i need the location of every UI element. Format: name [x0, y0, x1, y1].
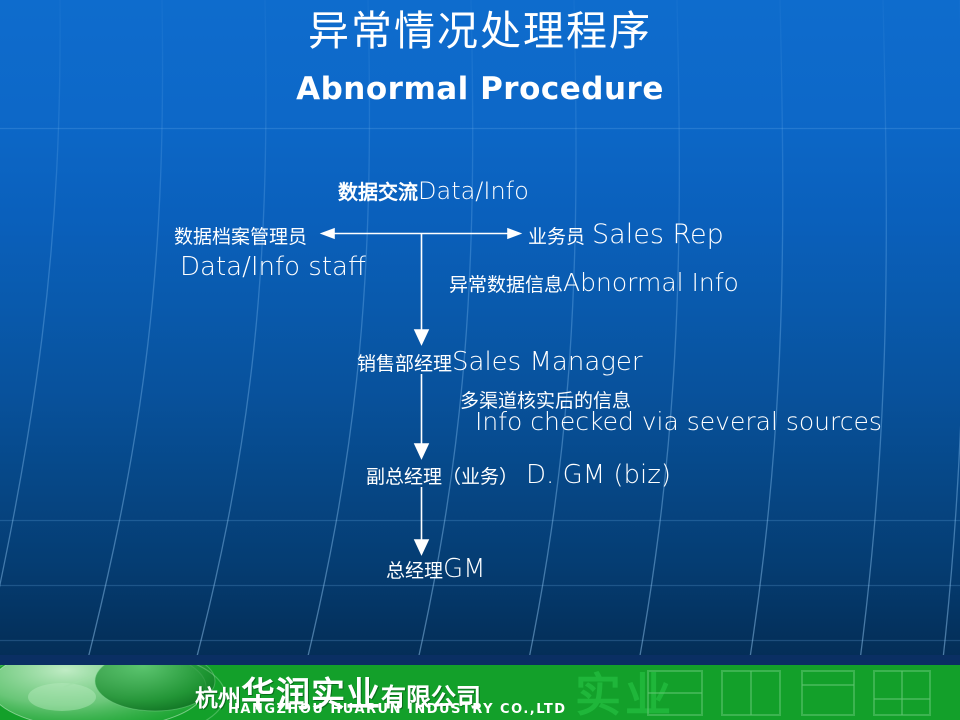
node-deputy-gm: 副总经理（业务）D. GM (biz): [366, 460, 671, 490]
node-deputy-gm-en: D. GM (biz): [518, 460, 671, 490]
footer-banner: 实业 杭州华润实业有限公司 HANGZHOU HUARUN: [0, 655, 960, 720]
node-sales-manager-en: Sales Manager: [452, 347, 643, 377]
edge-label-data-info-cn: 数据交流: [338, 180, 418, 204]
node-deputy-gm-cn: 副总经理（业务）: [366, 466, 518, 488]
node-gm-cn: 总经理: [386, 560, 443, 582]
node-sales-rep: 业务员Sales Rep: [528, 219, 724, 250]
node-data-info-staff-cn: 数据档案管理员: [174, 222, 307, 249]
footer-divider-strip: [0, 655, 960, 665]
node-sales-manager: 销售部经理Sales Manager: [357, 347, 643, 377]
footer-green-band: 实业 杭州华润实业有限公司 HANGZHOU HUARUN: [0, 665, 960, 720]
edge-dgm-gm: [415, 487, 428, 554]
edge-label-data-info-en: Data/Info: [418, 177, 529, 205]
node-sales-rep-cn: 业务员: [528, 226, 585, 248]
edge-manager-dgm: [415, 374, 428, 458]
node-data-info-staff-en: Data/Info staff: [180, 252, 366, 282]
footer-outline-decoration: [630, 665, 960, 720]
edge-label-data-info: 数据交流Data/Info: [338, 176, 529, 205]
edge-salesrep-manager: [415, 234, 428, 345]
node-gm: 总经理GM: [386, 554, 486, 584]
slide-canvas: 异常情况处理程序 Abnormal Procedure 数据交流Data/Inf…: [0, 0, 960, 720]
edge-label-abnormal-info-en: Abnormal Info: [563, 268, 739, 297]
node-sales-manager-cn: 销售部经理: [357, 353, 452, 375]
edge-label-abnormal-info: 异常数据信息Abnormal Info: [449, 268, 739, 297]
node-gm-en: GM: [443, 554, 486, 584]
company-logo-english: HANGZHOU HUARUN INDUSTRY CO.,LTD: [228, 702, 567, 717]
edge-label-abnormal-info-cn: 异常数据信息: [449, 274, 563, 296]
edge-label-checked-en: Info checked via several sources: [475, 407, 882, 436]
node-sales-rep-en: Sales Rep: [585, 219, 724, 250]
